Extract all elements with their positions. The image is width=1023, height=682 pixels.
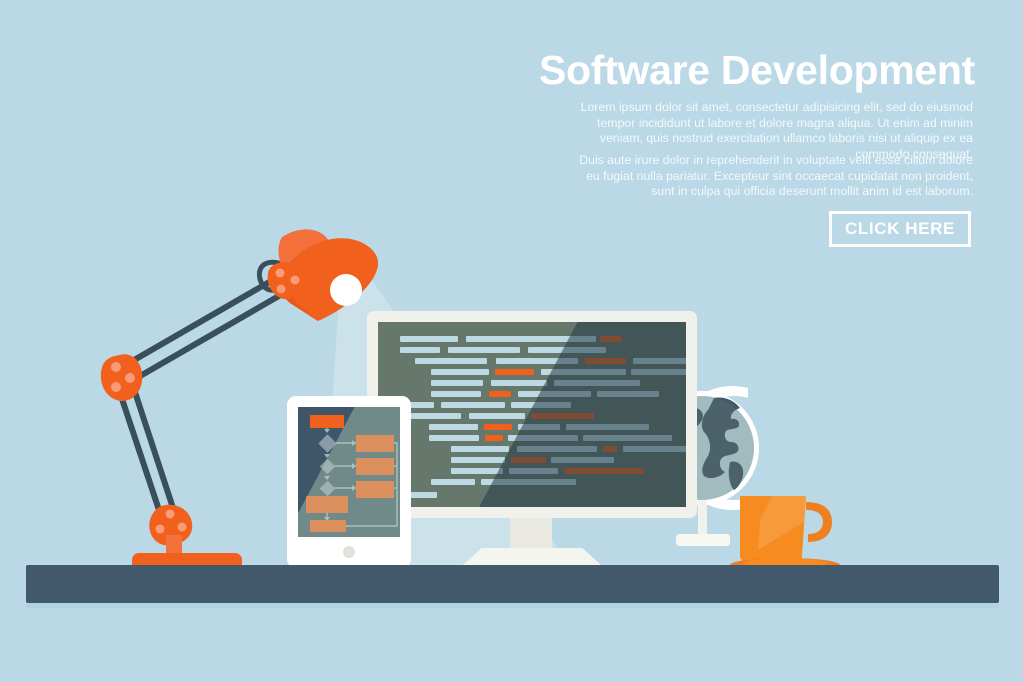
coffee-cup bbox=[728, 480, 840, 572]
monitor-screen bbox=[378, 322, 686, 507]
desk-lamp bbox=[90, 215, 400, 575]
hero-paragraph-2: Duis aute irure dolor in reprehenderit i… bbox=[573, 153, 973, 200]
illustration-page: Software Development Lorem ipsum dolor s… bbox=[0, 0, 1023, 682]
page-title: Software Development bbox=[520, 46, 975, 94]
monitor-neck bbox=[510, 518, 552, 550]
desktop-monitor bbox=[367, 311, 697, 518]
desk bbox=[26, 565, 999, 603]
monitor-base bbox=[462, 548, 602, 566]
desk-shadow bbox=[26, 603, 999, 608]
screen-shadow-overlay bbox=[378, 322, 686, 507]
click-here-button[interactable]: CLICK HERE bbox=[829, 211, 971, 247]
